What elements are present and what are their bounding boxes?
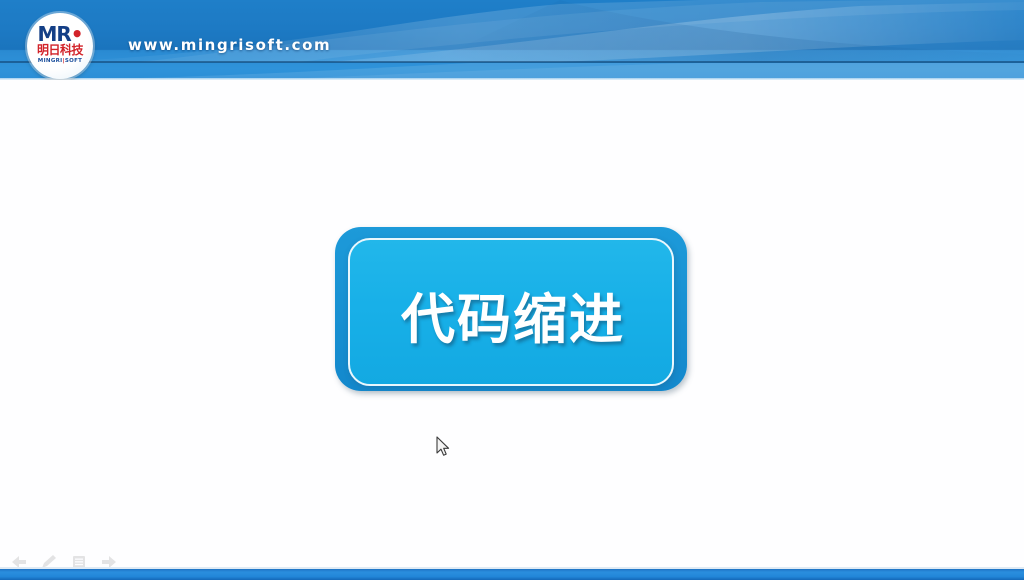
slide-header-banner: MR• 明日科技 MINGRI|SOFT www.mingrisoft.com xyxy=(0,0,1024,80)
logo-en-left: MINGRI xyxy=(38,58,63,64)
title-shape-front-layer: 代码缩进 xyxy=(348,238,674,386)
logo-english-name: MINGRI|SOFT xyxy=(27,58,93,65)
title-callout-shape: 代码缩进 xyxy=(332,224,696,400)
footer-bar xyxy=(0,569,1024,580)
mingrisoft-logo: MR• 明日科技 MINGRI|SOFT xyxy=(27,13,93,79)
logo-chinese-name: 明日科技 xyxy=(27,44,93,57)
logo-mark-icon: MR• xyxy=(27,24,93,44)
presentation-slide: MR• 明日科技 MINGRI|SOFT www.mingrisoft.com … xyxy=(0,0,1024,580)
mouse-cursor xyxy=(436,436,452,458)
header-bottom-highlight xyxy=(0,78,1024,80)
logo-inner: MR• 明日科技 MINGRI|SOFT xyxy=(27,13,93,79)
header-divider-line xyxy=(0,61,1024,63)
page-title: 代码缩进 xyxy=(350,240,676,388)
logo-en-right: SOFT xyxy=(65,58,82,64)
site-url-text: www.mingrisoft.com xyxy=(128,36,331,54)
